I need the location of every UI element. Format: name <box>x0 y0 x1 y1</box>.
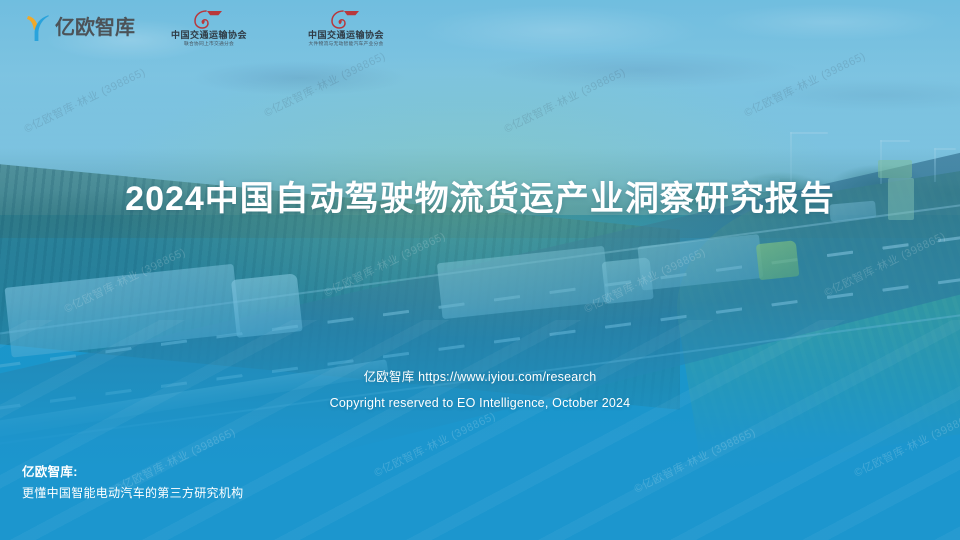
transport-association-emblem-icon <box>194 10 224 29</box>
partner-logo-1[interactable]: 中国交通运输协会 联合协同上市交通分会 <box>171 10 247 47</box>
page-title: 2024中国自动驾驶物流货运产业洞察研究报告 <box>0 176 960 222</box>
title-slide: ©亿欧智库·林业 (398865) ©亿欧智库·林业 (398865) ©亿欧智… <box>0 0 960 540</box>
source-meta-block: 亿欧智库 https://www.iyiou.com/research Copy… <box>0 364 960 416</box>
partner-logo-2[interactable]: 中国交通运输协会 大件物流与无动智能汽车产业分会 <box>307 10 385 47</box>
partner-sub-2: 大件物流与无动智能汽车产业分会 <box>309 42 384 47</box>
tagline-subheading: 更懂中国智能电动汽车的第三方研究机构 <box>22 483 243 504</box>
source-url-line[interactable]: 亿欧智库 https://www.iyiou.com/research <box>0 364 960 390</box>
brand-tagline: 亿欧智库: 更懂中国智能电动汽车的第三方研究机构 <box>22 462 243 504</box>
eo-intelligence-logo[interactable]: 亿欧智库 <box>26 13 135 43</box>
partner-name-2: 中国交通运输协会 <box>308 31 384 40</box>
eo-intelligence-logo-mark <box>26 13 52 43</box>
transport-association-emblem-icon <box>331 10 361 29</box>
logo-bar: 亿欧智库 中国交通运输协会 联合协同上市交通分会 中国交通运输协会 大件物流与无… <box>0 0 960 56</box>
tagline-heading: 亿欧智库: <box>22 462 243 483</box>
copyright-line: Copyright reserved to EO Intelligence, O… <box>0 390 960 416</box>
eo-intelligence-wordmark: 亿欧智库 <box>55 18 135 38</box>
background-photo-highway-trucks <box>0 0 960 540</box>
partner-sub-1: 联合协同上市交通分会 <box>184 42 234 47</box>
diagonal-light-streaks <box>0 320 960 540</box>
partner-name-1: 中国交通运输协会 <box>171 31 247 40</box>
